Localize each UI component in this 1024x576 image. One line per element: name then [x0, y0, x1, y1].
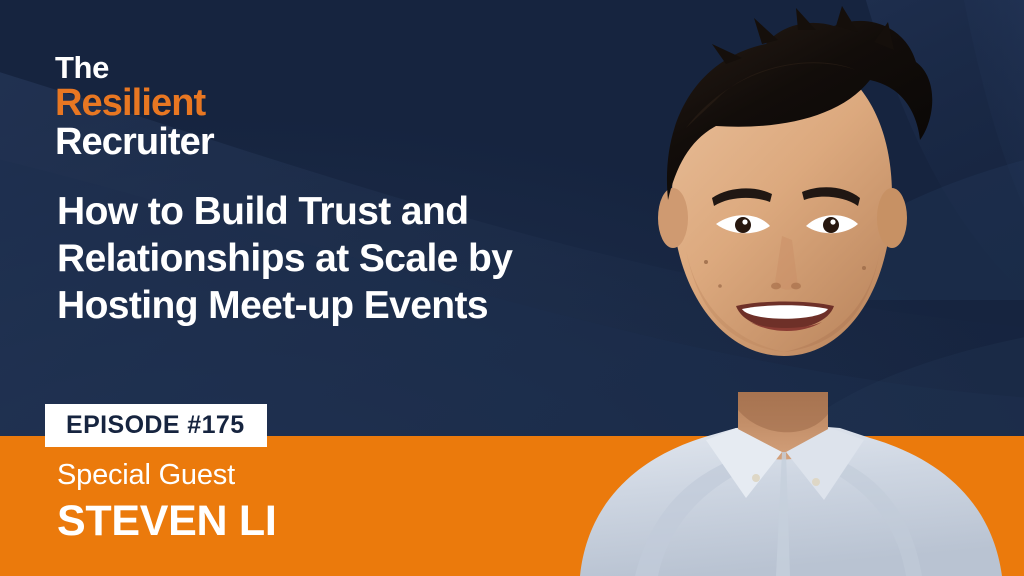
episode-number-badge: EPISODE #175 — [45, 404, 267, 447]
logo-line-resilient: Resilient — [55, 84, 214, 122]
special-guest-label: Special Guest — [57, 461, 235, 490]
guest-name: STEVEN LI — [57, 500, 277, 543]
logo-line-the: The — [55, 52, 214, 83]
show-logo: The Resilient Recruiter — [55, 52, 214, 161]
podcast-episode-graphic: The Resilient Recruiter How to Build Tru… — [0, 0, 1024, 576]
logo-line-recruiter: Recruiter — [55, 123, 214, 161]
episode-title: How to Build Trust and Relationships at … — [57, 188, 657, 329]
